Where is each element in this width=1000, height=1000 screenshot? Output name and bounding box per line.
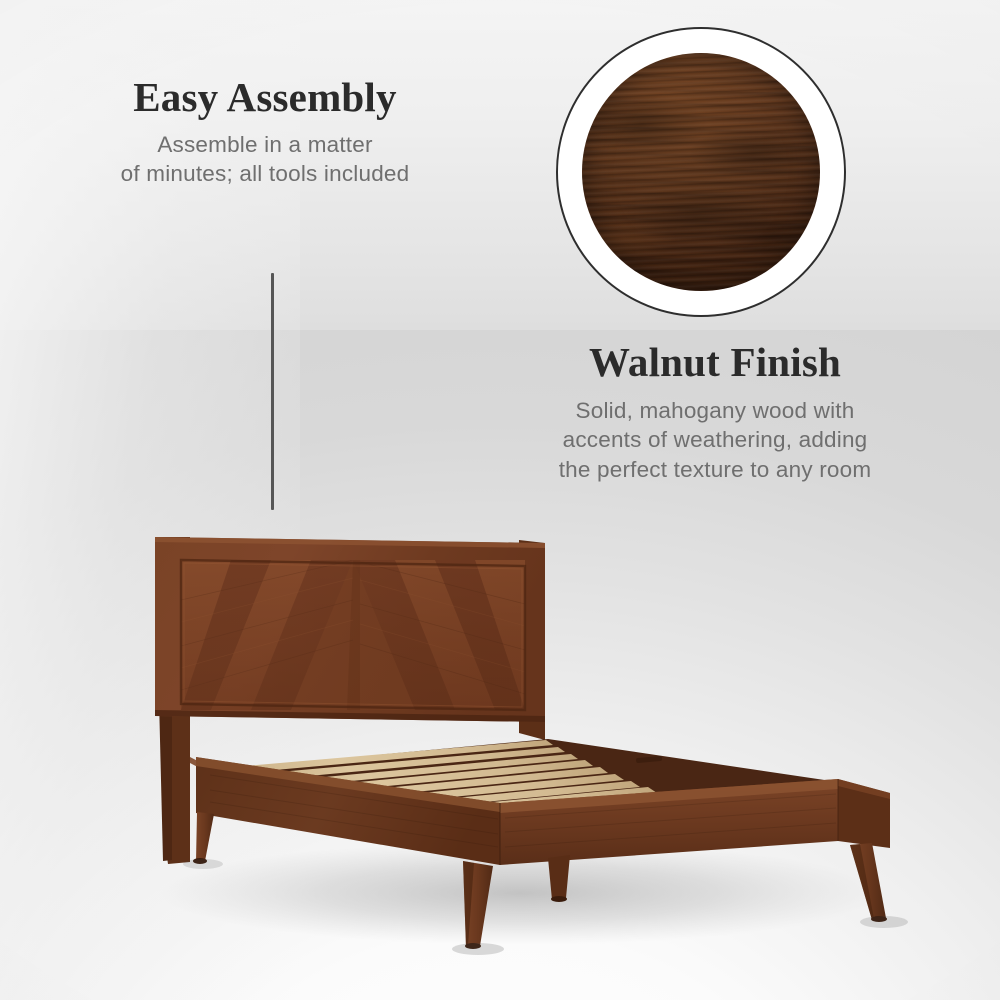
platform-bed-illustration	[0, 0, 1000, 1000]
infographic-canvas: Easy Assembly Assemble in a matter of mi…	[0, 0, 1000, 1000]
leg-front-left	[196, 812, 214, 861]
headboard-herringbone-panel	[181, 560, 525, 710]
leg-tip	[551, 896, 567, 902]
product-image-platform-bed	[0, 0, 1000, 1000]
leg-contact-shadow	[452, 943, 504, 955]
leg-contact-shadow	[860, 916, 908, 928]
leg-contact-shadow	[183, 859, 223, 869]
